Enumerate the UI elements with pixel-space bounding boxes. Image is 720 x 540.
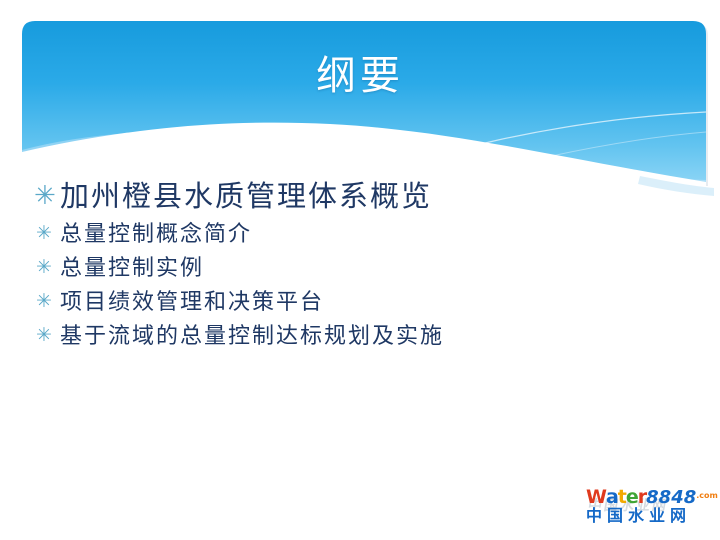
- list-item-label: 加州橙县水质管理体系概览: [60, 176, 432, 216]
- watermark-logo: 中国水业网 Water8848.com 中国水业网: [586, 486, 712, 534]
- list-item[interactable]: ✳ 项目绩效管理和决策平台: [34, 286, 674, 319]
- watermark-numbers: 8848: [646, 487, 696, 508]
- title-banner: 纲要: [0, 0, 720, 200]
- presentation-slide: 纲要 ✳ 加州橙县水质管理体系概览 ✳ 总量控制概念简介 ✳ 总量控制实例 ✳ …: [0, 0, 720, 540]
- list-item-label: 基于流域的总量控制达标规划及实施: [60, 320, 444, 353]
- list-item-label: 总量控制实例: [60, 252, 204, 285]
- bullet-asterisk-icon: ✳: [36, 292, 60, 311]
- watermark-chinese: 中国水业网: [586, 506, 691, 526]
- watermark-letter-t: t: [618, 486, 626, 508]
- list-item[interactable]: ✳ 基于流域的总量控制达标规划及实施: [34, 320, 674, 353]
- watermark-letter-a: a: [606, 486, 618, 508]
- list-item[interactable]: ✳ 加州橙县水质管理体系概览: [34, 176, 674, 216]
- watermark-tld: .com: [696, 491, 718, 500]
- outline-list: ✳ 加州橙县水质管理体系概览 ✳ 总量控制概念简介 ✳ 总量控制实例 ✳ 项目绩…: [34, 176, 674, 354]
- watermark-letter-r: r: [638, 486, 646, 508]
- bullet-asterisk-icon: ✳: [36, 258, 60, 277]
- list-item-label: 项目绩效管理和决策平台: [60, 286, 324, 319]
- watermark-letter-w: W: [586, 486, 606, 508]
- list-item[interactable]: ✳ 总量控制实例: [34, 252, 674, 285]
- list-item-label: 总量控制概念简介: [60, 218, 252, 251]
- list-item[interactable]: ✳ 总量控制概念简介: [34, 218, 674, 251]
- bullet-asterisk-icon: ✳: [36, 326, 60, 345]
- watermark-letter-e: e: [626, 486, 638, 508]
- bullet-asterisk-icon: ✳: [36, 224, 60, 243]
- page-title: 纲要: [0, 50, 720, 102]
- bullet-asterisk-icon: ✳: [34, 183, 60, 209]
